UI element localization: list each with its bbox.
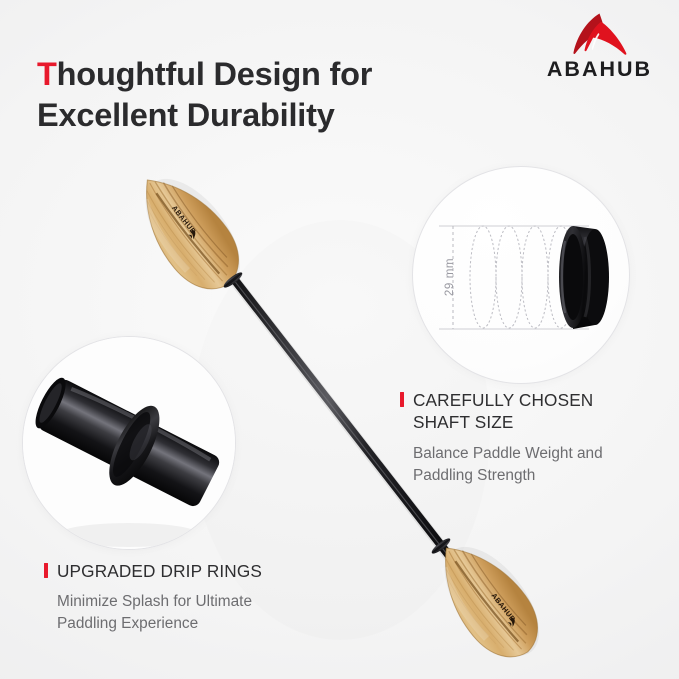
headline-line1: houghtful Design for <box>57 56 373 92</box>
shaft-diameter-diagram: 29 mm <box>413 167 629 383</box>
callout-marker-icon <box>400 392 404 407</box>
paddle-blade-upper: ABAHUB <box>121 158 258 306</box>
page-title: Thoughtful Design for Excellent Durabili… <box>37 54 467 136</box>
callout-body: Balance Paddle Weight and Paddling Stren… <box>413 443 655 487</box>
callout-body: Minimize Splash for Ultimate Paddling Ex… <box>57 591 309 635</box>
shaft-size-magnifier: 29 mm <box>412 166 630 384</box>
cross-section-ellipses <box>470 226 574 328</box>
shaft-tube-render <box>559 226 609 329</box>
drip-ring-magnifier <box>22 336 236 550</box>
headline-line2: Excellent Durability <box>37 97 335 133</box>
dimension-label: 29 mm <box>444 258 456 296</box>
callout-title: UPGRADED DRIP RINGS <box>57 560 262 582</box>
svg-text:ABAHUB: ABAHUB <box>170 204 198 236</box>
paddle-blade-lower: ABAHUB <box>420 526 557 674</box>
drip-ring-upper <box>222 270 244 290</box>
callout-upgraded-drip-rings: UPGRADED DRIP RINGS Minimize Splash for … <box>44 560 309 635</box>
drip-ring-closeup-illustration <box>23 337 235 549</box>
callout-title: CAREFULLY CHOSEN SHAFT SIZE <box>413 389 655 434</box>
abahub-wave-a-mark-icon <box>565 12 635 58</box>
callout-marker-icon <box>44 563 48 578</box>
infographic-canvas: ABAHUB Thoughtful Design for Excellent D… <box>0 0 679 679</box>
headline-accent-letter: T <box>37 56 57 92</box>
svg-text:ABAHUB: ABAHUB <box>489 591 517 623</box>
brand-wordmark: ABAHUB <box>547 59 652 81</box>
brand-logo: ABAHUB <box>527 12 672 84</box>
drip-ring-lower <box>430 536 452 556</box>
callout-carefully-chosen-shaft-size: CAREFULLY CHOSEN SHAFT SIZE Balance Padd… <box>400 389 655 486</box>
